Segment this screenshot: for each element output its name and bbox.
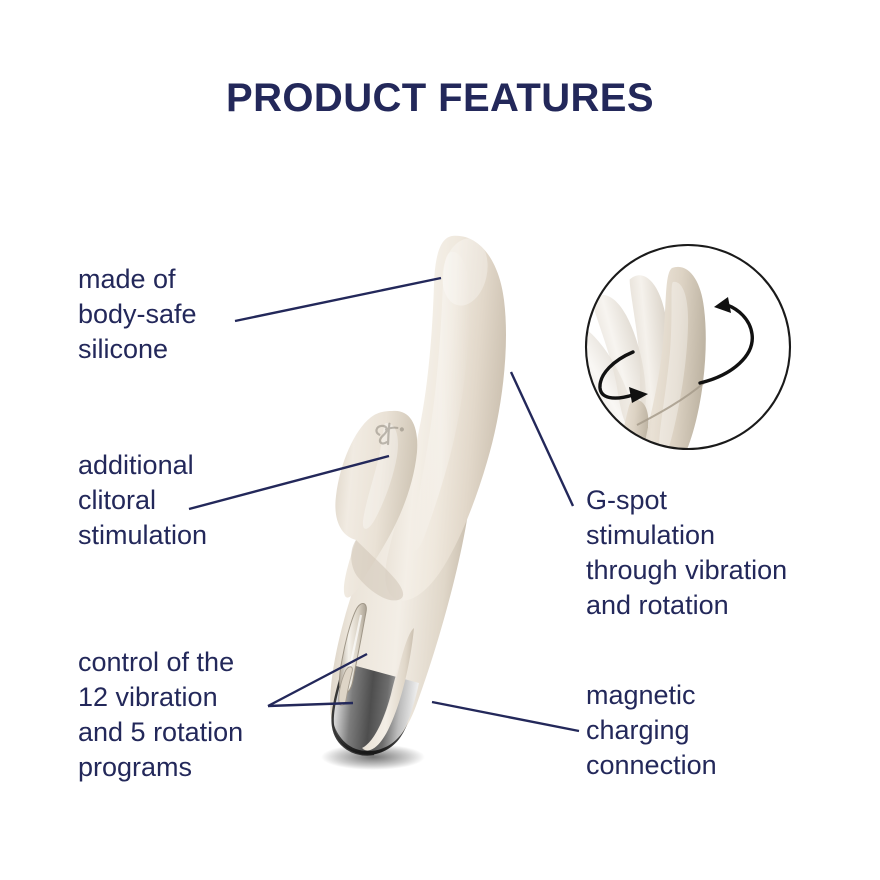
inset-circle-border xyxy=(586,245,790,449)
chrome-base-bottom xyxy=(333,722,408,755)
inset-shaft-highlight xyxy=(659,282,688,458)
base-shadow xyxy=(321,744,425,770)
rotation-arrowhead-left xyxy=(629,387,648,403)
product-handle xyxy=(330,492,470,752)
inset-clitoral-arm xyxy=(613,400,648,490)
callout-label-silicone: made of body-safe silicone xyxy=(78,262,308,367)
callout-label-control: control of the 12 vibration and 5 rotati… xyxy=(78,645,328,785)
callout-label-magnetic: magnetic charging connection xyxy=(586,678,836,783)
chrome-base xyxy=(333,663,419,754)
inset-shaft xyxy=(641,267,706,491)
handle-front-flap-main xyxy=(363,628,414,750)
satisfyer-s-logo xyxy=(376,422,406,446)
shaft-highlight xyxy=(412,252,470,551)
shaft-tip-highlight xyxy=(436,234,493,310)
rotation-ghost-near xyxy=(623,272,681,425)
clitoral-arm-highlight xyxy=(363,423,398,529)
leader-line-magnetic xyxy=(432,702,579,731)
callout-label-gspot: G-spot stimulation through vibration and… xyxy=(586,483,836,623)
control-button-strip xyxy=(339,603,366,693)
control-button-secondary xyxy=(339,667,353,706)
rotation-equator-line xyxy=(637,382,705,425)
control-button-strip-inner xyxy=(347,615,361,683)
page-title: PRODUCT FEATURES xyxy=(0,76,880,121)
rotation-ghost-far xyxy=(556,316,652,443)
rotation-ghost-mid xyxy=(585,289,663,434)
leader-line-gspot xyxy=(511,372,573,506)
handle-front-flap xyxy=(362,636,410,749)
rotation-arrowhead-right xyxy=(714,297,731,313)
chrome-rim xyxy=(333,663,374,754)
product-features-infographic: PRODUCT FEATURES xyxy=(0,0,880,880)
arm-shaft-junction-shade xyxy=(351,540,403,600)
product-shaft xyxy=(385,236,506,601)
rotation-arrow-left xyxy=(600,352,633,398)
clitoral-arm xyxy=(335,411,417,598)
callout-label-clitoral: additional clitoral stimulation xyxy=(78,448,318,553)
rotation-arrow-right xyxy=(700,305,752,383)
